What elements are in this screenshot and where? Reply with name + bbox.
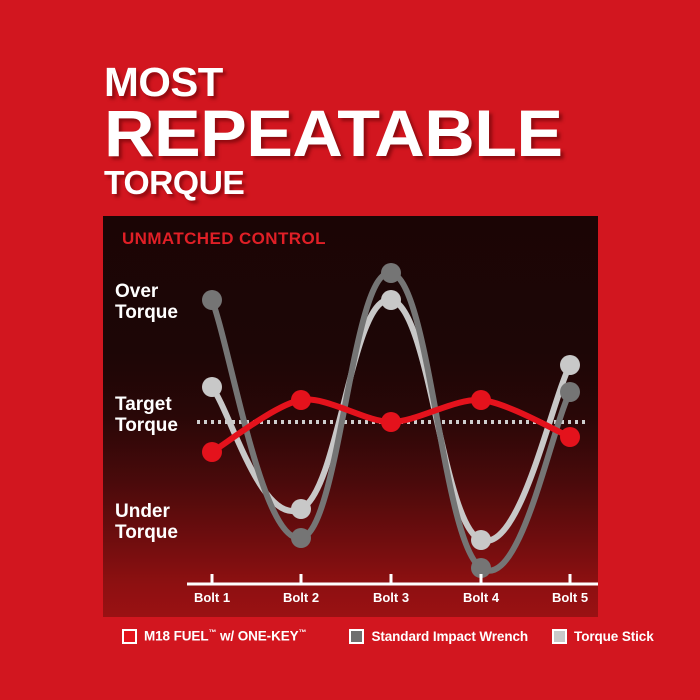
data-point-marker [202,377,222,397]
data-point-marker [560,355,580,375]
data-point-marker [291,499,311,519]
legend-item-m18-fuel: M18 FUEL™ w/ ONE-KEY™ [122,628,306,644]
legend-label-standard-impact-wrench: Standard Impact Wrench [371,629,528,644]
legend-item-torque-stick: Torque Stick [552,629,654,644]
chart-plot-area [103,216,598,617]
legend-swatch-standard-impact-wrench [349,629,364,644]
data-point-marker [202,290,222,310]
poster-root: MOST REPEATABLE TORQUE UNMATCHED CONTROL… [0,0,700,700]
x-axis-tick-label: Bolt 2 [283,590,319,605]
data-point-marker [560,427,580,447]
headline-line-torque: TORQUE [104,166,634,200]
headline: MOST REPEATABLE TORQUE [104,62,624,200]
data-point-marker [381,263,401,283]
chart-panel: UNMATCHED CONTROL Over Torque Target Tor… [103,216,598,617]
legend-label-torque-stick: Torque Stick [574,629,654,644]
data-point-marker [381,290,401,310]
headline-line-repeatable: REPEATABLE [104,100,655,166]
x-axis-tick-label: Bolt 4 [463,590,499,605]
data-point-marker [291,390,311,410]
x-axis-tick-label: Bolt 3 [373,590,409,605]
legend-item-standard-impact-wrench: Standard Impact Wrench [349,629,528,644]
data-point-marker [560,382,580,402]
chart-legend: M18 FUEL™ w/ ONE-KEY™ Standard Impact Wr… [122,626,654,646]
data-point-marker [202,442,222,462]
x-axis-tick-label: Bolt 5 [552,590,588,605]
data-point-marker [381,412,401,432]
legend-swatch-torque-stick [552,629,567,644]
data-point-marker [471,530,491,550]
data-point-marker [471,390,491,410]
data-point-marker [291,528,311,548]
x-axis-tick-label: Bolt 1 [194,590,230,605]
legend-swatch-m18-fuel [122,629,137,644]
legend-label-m18-fuel: M18 FUEL™ w/ ONE-KEY™ [144,628,306,644]
